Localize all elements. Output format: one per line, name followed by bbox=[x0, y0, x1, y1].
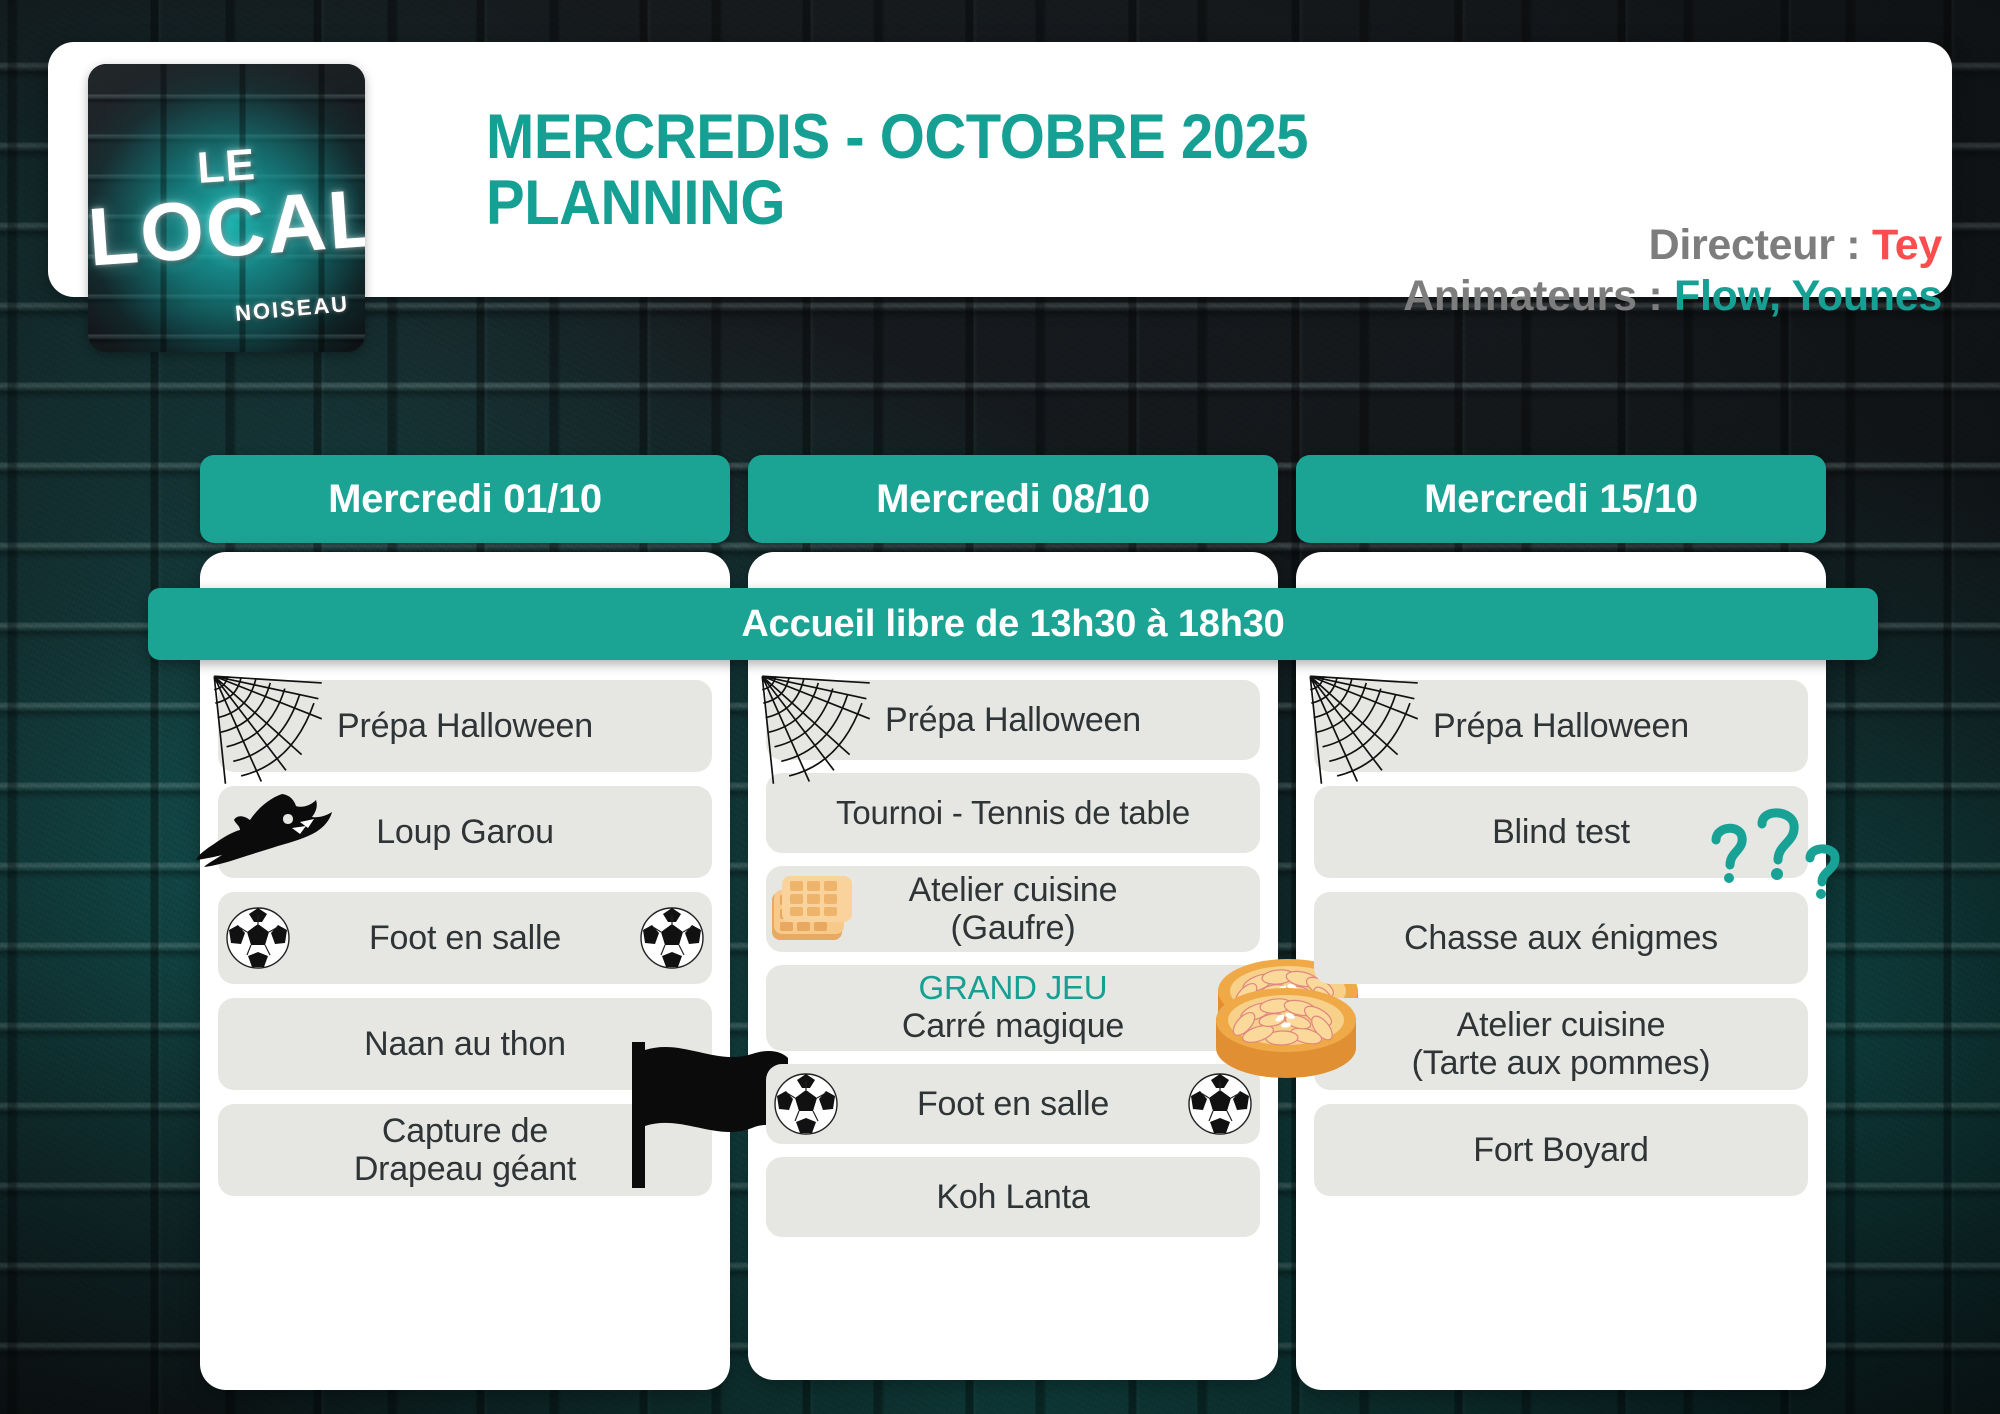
day-header-01-10: Mercredi 01/10 bbox=[200, 455, 730, 543]
wolf-icon bbox=[196, 792, 346, 872]
activity-name: Carré magique bbox=[902, 1007, 1124, 1045]
grand-jeu-tag: GRAND JEU bbox=[902, 970, 1124, 1007]
activity-label: Koh Lanta bbox=[936, 1178, 1089, 1216]
activity-label: GRAND JEU Carré magique bbox=[902, 970, 1124, 1045]
accueil-libre-banner: Accueil libre de 13h30 à 18h30 bbox=[148, 588, 1878, 660]
activity-label: Prépa Halloween bbox=[337, 707, 593, 745]
soccer-ball-icon bbox=[226, 906, 290, 970]
activity-label: Chasse aux énigmes bbox=[1404, 919, 1718, 957]
waffle-icon bbox=[768, 870, 860, 948]
activity-label: Naan au thon bbox=[364, 1025, 566, 1063]
activity-label: Prépa Halloween bbox=[1433, 707, 1689, 745]
animators-names: Flow, Younes bbox=[1674, 272, 1942, 320]
activity-label: Loup Garou bbox=[376, 813, 554, 851]
director-line: Directeur : Tey bbox=[1403, 220, 1942, 271]
director-label: Directeur : bbox=[1649, 221, 1861, 269]
day-header-08-10: Mercredi 08/10 bbox=[748, 455, 1278, 543]
activity-item: Loup Garou bbox=[218, 786, 712, 878]
activity-label: Atelier cuisine(Gaufre) bbox=[909, 871, 1118, 947]
activity-item: GRAND JEU Carré magique bbox=[766, 965, 1260, 1051]
logo-le-local: LE LOCAL NOISEAU bbox=[88, 64, 365, 352]
activity-item: Prépa Halloween bbox=[1314, 680, 1808, 772]
activity-label: Blind test bbox=[1492, 813, 1630, 851]
activity-item: Tournoi - Tennis de table bbox=[766, 773, 1260, 853]
activity-item: Atelier cuisine(Tarte aux pommes) bbox=[1314, 998, 1808, 1090]
soccer-ball-icon bbox=[774, 1072, 838, 1136]
activity-item: Foot en salle bbox=[766, 1064, 1260, 1144]
spiderweb-icon bbox=[212, 674, 324, 786]
activity-label: Fort Boyard bbox=[1473, 1131, 1648, 1169]
activity-label: Capture deDrapeau géant bbox=[354, 1112, 576, 1188]
activity-item: Atelier cuisine(Gaufre) bbox=[766, 866, 1260, 952]
activity-list-08-10: Prépa Halloween Tournoi - Tennis de tabl… bbox=[766, 680, 1260, 1237]
activity-label: Prépa Halloween bbox=[885, 701, 1141, 739]
activity-item: Capture deDrapeau géant bbox=[218, 1104, 712, 1196]
soccer-ball-icon bbox=[1188, 1072, 1252, 1136]
logo-line-local: LOCAL bbox=[88, 172, 365, 285]
activity-item: Fort Boyard bbox=[1314, 1104, 1808, 1196]
activity-item: Chasse aux énigmes bbox=[1314, 892, 1808, 984]
animators-label: Animateurs : bbox=[1403, 272, 1662, 320]
activity-label: Tournoi - Tennis de table bbox=[836, 795, 1190, 832]
spiderweb-icon bbox=[760, 674, 872, 786]
activity-item: Blind test bbox=[1314, 786, 1808, 878]
spiderweb-icon bbox=[1308, 674, 1420, 786]
activity-list-15-10: Prépa Halloween Blind test Chasse aux én… bbox=[1314, 680, 1808, 1196]
activity-label: Atelier cuisine(Tarte aux pommes) bbox=[1412, 1006, 1711, 1082]
activity-item: Koh Lanta bbox=[766, 1157, 1260, 1237]
header-card: LE LOCAL NOISEAU MERCREDIS - OCTOBRE 202… bbox=[48, 42, 1952, 297]
staff-block: Directeur : Tey Animateurs : Flow, Youne… bbox=[1403, 220, 1942, 321]
activity-item: Prépa Halloween bbox=[218, 680, 712, 772]
soccer-ball-icon bbox=[640, 906, 704, 970]
director-name: Tey bbox=[1872, 221, 1942, 269]
activity-item: Foot en salle bbox=[218, 892, 712, 984]
activity-item: Prépa Halloween bbox=[766, 680, 1260, 760]
activity-label: Foot en salle bbox=[917, 1085, 1109, 1123]
activity-list-01-10: Prépa Halloween Loup Garou bbox=[218, 680, 712, 1196]
activity-item: Naan au thon bbox=[218, 998, 712, 1090]
planning-poster: LE LOCAL NOISEAU MERCREDIS - OCTOBRE 202… bbox=[0, 0, 2000, 1414]
day-header-15-10: Mercredi 15/10 bbox=[1296, 455, 1826, 543]
header-title-block: MERCREDIS - OCTOBRE 2025 PLANNING bbox=[486, 104, 1912, 236]
animators-line: Animateurs : Flow, Younes bbox=[1403, 271, 1942, 322]
page-title-line-1: MERCREDIS - OCTOBRE 2025 bbox=[486, 104, 1798, 170]
activity-label: Foot en salle bbox=[369, 919, 561, 957]
